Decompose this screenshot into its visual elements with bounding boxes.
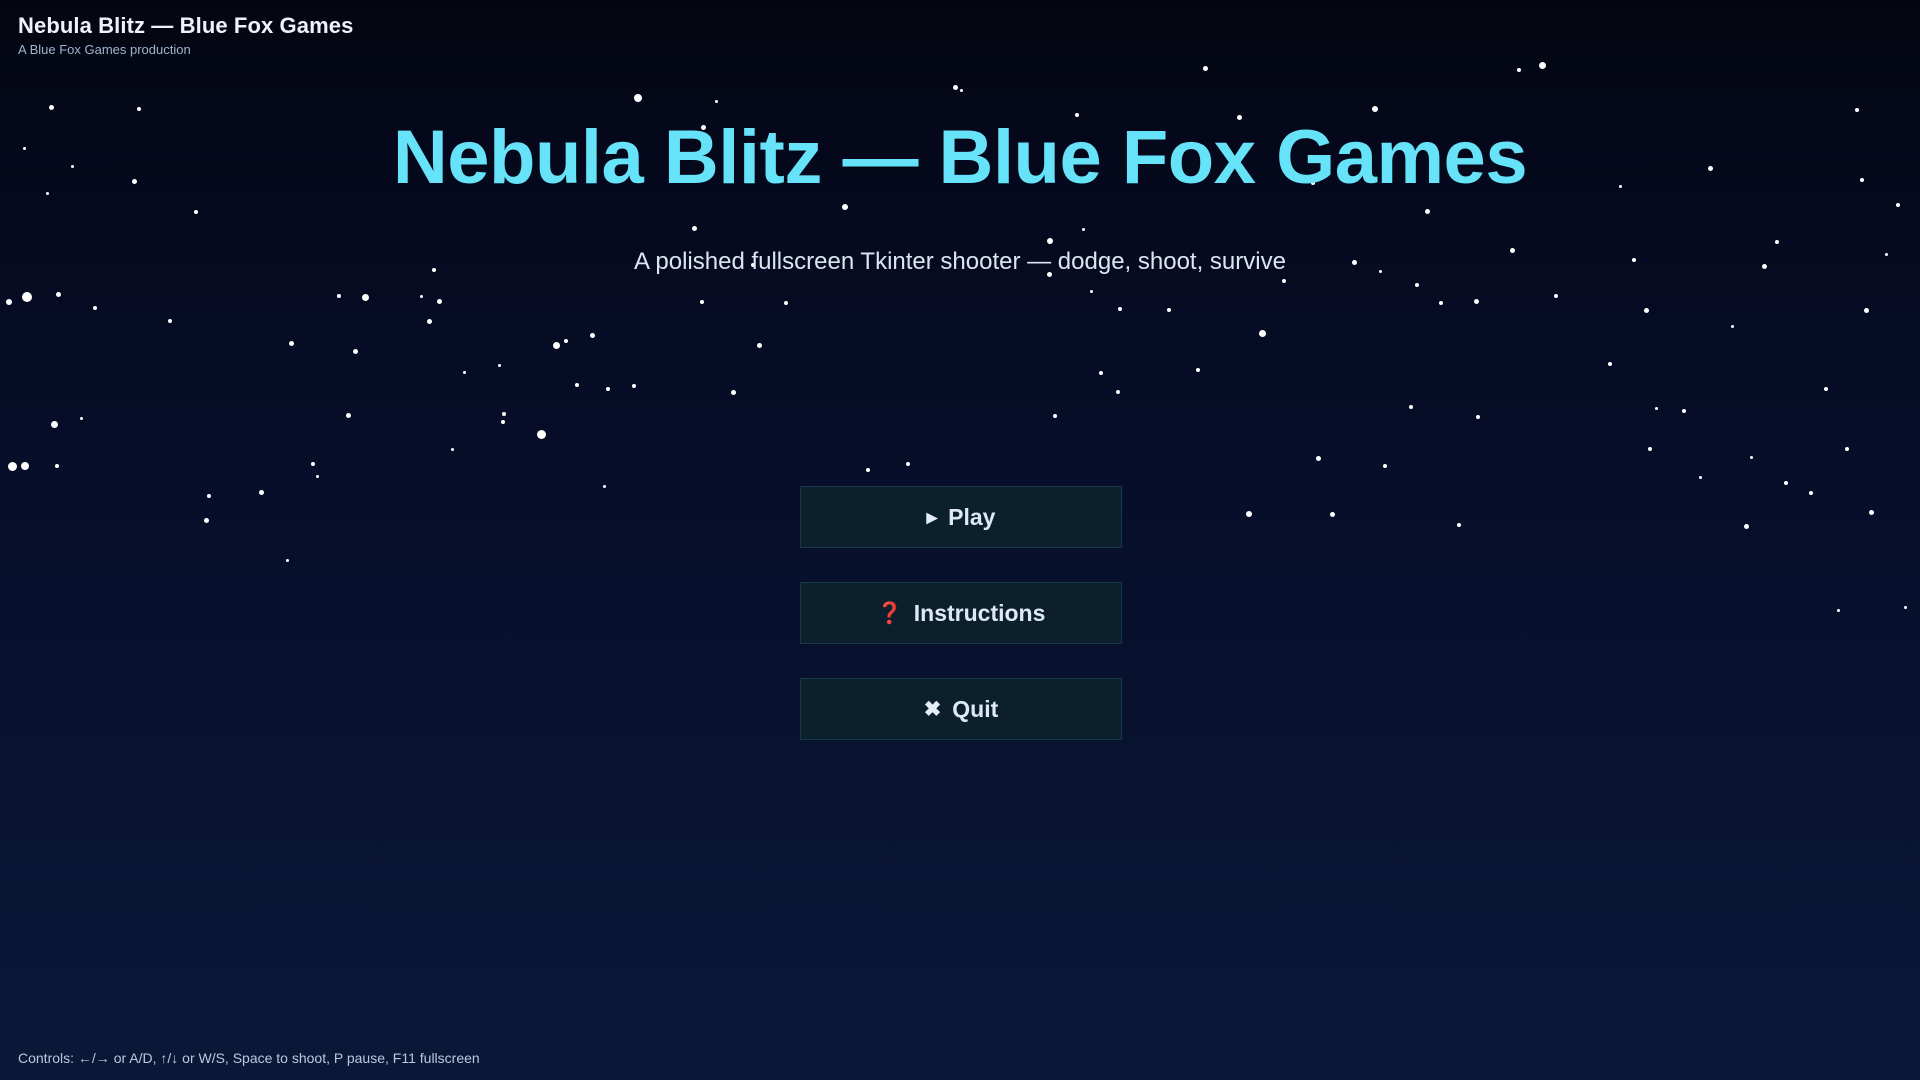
star <box>502 412 506 416</box>
star <box>784 301 788 305</box>
game-tagline: A polished fullscreen Tkinter shooter — … <box>0 248 1920 276</box>
star <box>1090 290 1093 293</box>
star <box>8 462 17 471</box>
star <box>1608 362 1612 366</box>
star <box>1474 299 1479 304</box>
star <box>906 462 910 466</box>
star <box>960 89 963 92</box>
star <box>207 494 211 498</box>
star <box>632 384 636 388</box>
quit-button[interactable]: ✖ Quit <box>800 678 1122 740</box>
instructions-button[interactable]: ❓ Instructions <box>800 582 1122 644</box>
star <box>463 371 466 374</box>
app-header: Nebula Blitz — Blue Fox Games A Blue Fox… <box>18 14 353 57</box>
star <box>1904 606 1907 609</box>
star <box>427 319 432 324</box>
star <box>1699 476 1702 479</box>
star <box>137 107 141 111</box>
hero-section: Nebula Blitz — Blue Fox Games A polished… <box>0 120 1920 276</box>
star <box>1824 387 1828 391</box>
star <box>1809 491 1813 495</box>
star <box>1837 609 1840 612</box>
star <box>1864 308 1869 313</box>
star <box>590 333 595 338</box>
star <box>715 100 718 103</box>
star <box>606 387 610 391</box>
star <box>634 94 642 102</box>
star <box>537 430 546 439</box>
star <box>1118 307 1122 311</box>
star <box>1053 414 1057 418</box>
star <box>1116 390 1120 394</box>
star <box>1655 407 1658 410</box>
star <box>1196 368 1200 372</box>
star <box>51 421 58 428</box>
star <box>1457 523 1461 527</box>
star <box>337 294 341 298</box>
star <box>1476 415 1480 419</box>
star <box>259 490 264 495</box>
play-triangle-icon: ▸ <box>927 507 938 528</box>
star <box>56 292 61 297</box>
star <box>1246 511 1252 517</box>
play-button[interactable]: ▸ Play <box>800 486 1122 548</box>
star <box>49 105 54 110</box>
instructions-button-label: Instructions <box>914 602 1046 625</box>
star <box>1750 456 1753 459</box>
star <box>1731 325 1734 328</box>
star <box>1554 294 1558 298</box>
controls-hint: Controls: ←/→ or A/D, ↑/↓ or W/S, Space … <box>18 1050 480 1066</box>
star <box>22 292 32 302</box>
star <box>553 342 560 349</box>
star <box>501 420 505 424</box>
star <box>1372 106 1378 112</box>
star <box>1383 464 1387 468</box>
star <box>93 306 97 310</box>
star <box>1682 409 1686 413</box>
star <box>1167 308 1171 312</box>
star <box>204 518 209 523</box>
game-title: Nebula Blitz — Blue Fox Games <box>0 120 1920 196</box>
star <box>289 341 294 346</box>
star <box>1517 68 1521 72</box>
star <box>6 299 12 305</box>
star <box>1869 510 1874 515</box>
star <box>362 294 369 301</box>
star <box>80 417 83 420</box>
star <box>1203 66 1208 71</box>
star <box>1330 512 1335 517</box>
question-mark-icon: ❓ <box>877 603 903 624</box>
star <box>1099 371 1103 375</box>
star <box>1539 62 1546 69</box>
star <box>575 383 579 387</box>
star <box>286 559 289 562</box>
star <box>564 339 568 343</box>
star <box>316 475 319 478</box>
game-screen: Nebula Blitz — Blue Fox Games A Blue Fox… <box>0 0 1920 1080</box>
app-title: Nebula Blitz — Blue Fox Games <box>18 14 353 38</box>
star <box>21 462 29 470</box>
star <box>1855 108 1859 112</box>
star <box>437 299 442 304</box>
star <box>731 390 736 395</box>
star <box>55 464 59 468</box>
star <box>498 364 501 367</box>
star <box>757 343 762 348</box>
cross-mark-icon: ✖ <box>924 699 942 720</box>
star <box>353 349 358 354</box>
star <box>1409 405 1413 409</box>
star <box>1316 456 1321 461</box>
star <box>1259 330 1266 337</box>
star <box>311 462 315 466</box>
star <box>1439 301 1443 305</box>
star <box>168 319 172 323</box>
star <box>1845 447 1849 451</box>
star <box>866 468 870 472</box>
star <box>953 85 958 90</box>
star <box>451 448 454 451</box>
star <box>1784 481 1788 485</box>
star <box>1282 279 1286 283</box>
star <box>420 295 423 298</box>
star <box>1415 283 1419 287</box>
star <box>700 300 704 304</box>
star <box>1744 524 1749 529</box>
quit-button-label: Quit <box>952 698 998 721</box>
app-subtitle: A Blue Fox Games production <box>18 42 353 57</box>
star <box>1644 308 1649 313</box>
play-button-label: Play <box>948 506 995 529</box>
main-menu: ▸ Play ❓ Instructions ✖ Quit <box>800 486 1122 740</box>
star <box>603 485 606 488</box>
star <box>1648 447 1652 451</box>
star <box>346 413 351 418</box>
